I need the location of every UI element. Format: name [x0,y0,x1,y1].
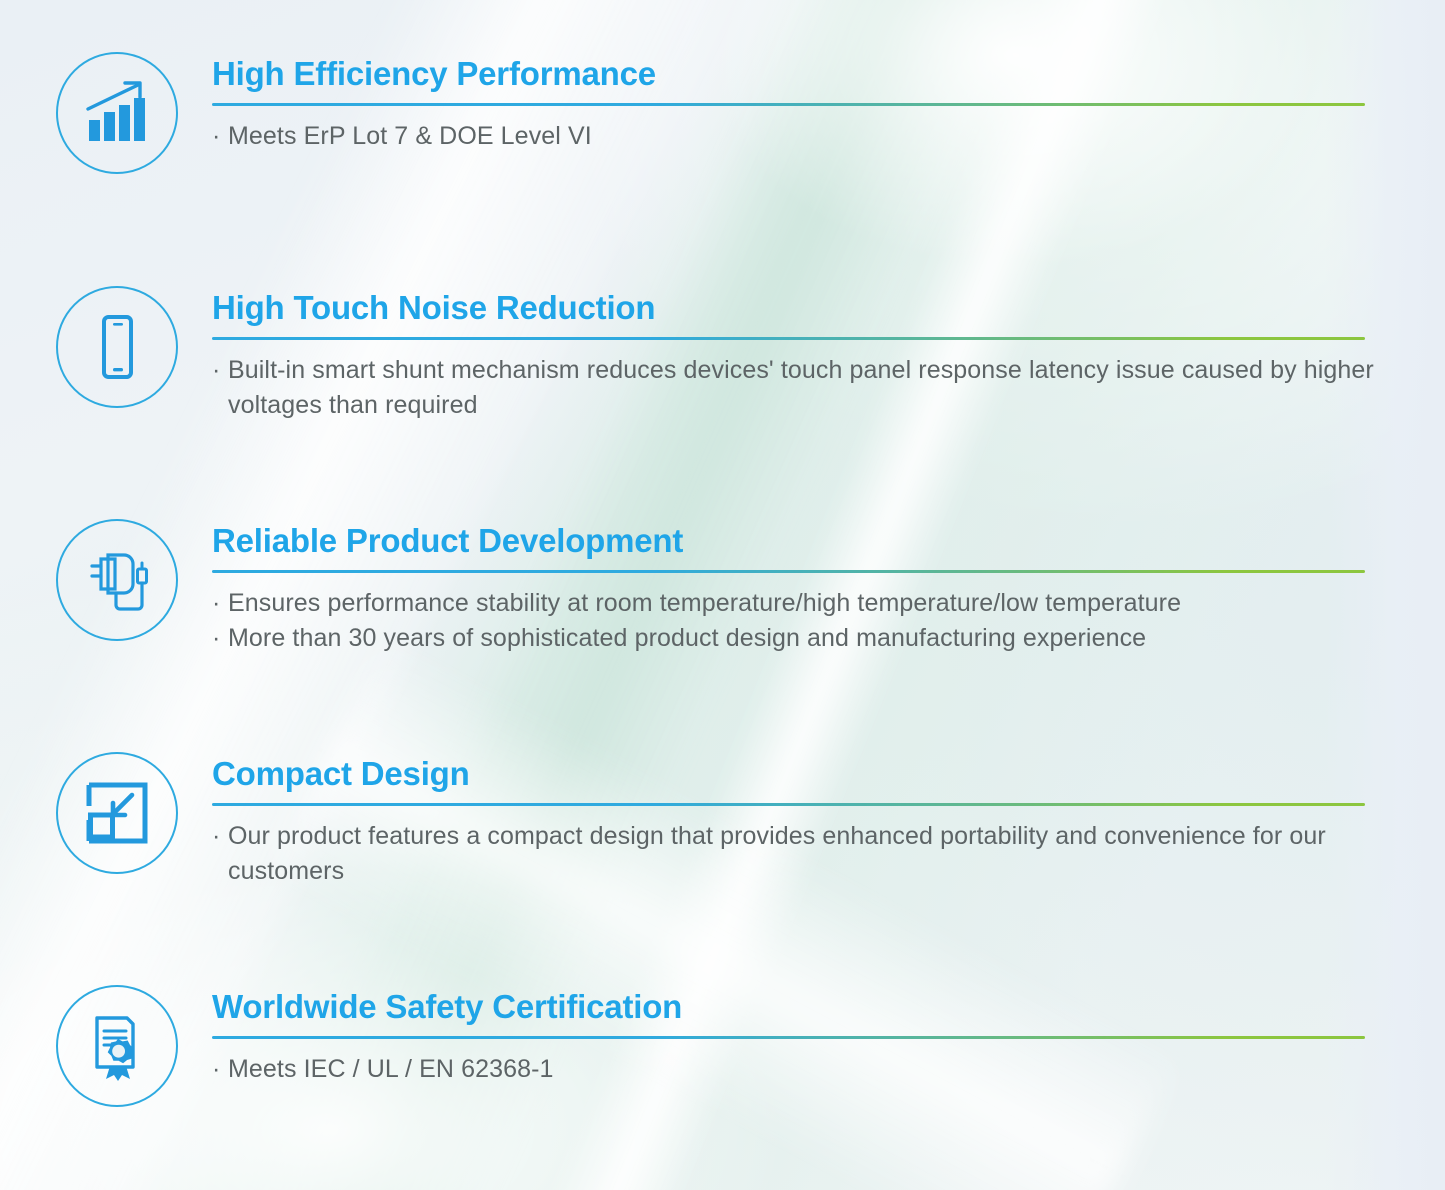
list-item: · Meets IEC / UL / EN 62368-1 [212,1052,1445,1088]
feature-icon-container [54,284,180,408]
feature-title: High Touch Noise Reduction [212,290,1445,327]
feature-bullets: · Built-in smart shunt mechanism reduces… [212,353,1445,424]
feature-divider [212,803,1365,806]
bullet-marker: · [212,621,228,657]
list-item: · Meets ErP Lot 7 & DOE Level VI [212,119,1445,155]
feature-body: High Efficiency Performance · Meets ErP … [212,50,1445,154]
bullet-marker: · [212,819,228,855]
feature-icon-container [54,750,180,874]
feature-item-reliable-product-development: Reliable Product Development · Ensures p… [0,517,1445,657]
list-item: · Our product features a compact design … [212,819,1445,890]
feature-title: Compact Design [212,756,1445,793]
certificate-award-icon [56,985,178,1107]
list-item: · Built-in smart shunt mechanism reduces… [212,353,1445,424]
feature-divider [212,570,1365,573]
bullet-text: Meets IEC / UL / EN 62368-1 [228,1052,1445,1088]
feature-item-worldwide-safety-certification: Worldwide Safety Certification · Meets I… [0,983,1445,1107]
feature-icon-container [54,983,180,1107]
feature-bullets: · Meets ErP Lot 7 & DOE Level VI [212,119,1445,155]
power-adapter-icon [56,519,178,641]
bullet-marker: · [212,586,228,622]
feature-highlights-page: High Efficiency Performance · Meets ErP … [0,0,1445,1190]
feature-item-high-efficiency-performance: High Efficiency Performance · Meets ErP … [0,50,1445,174]
compact-resize-icon [56,752,178,874]
bullet-marker: · [212,1052,228,1088]
bullet-marker: · [212,119,228,155]
bullet-text: Ensures performance stability at room te… [228,586,1445,622]
feature-divider [212,103,1365,106]
feature-bullets: · Meets IEC / UL / EN 62368-1 [212,1052,1445,1088]
feature-body: Worldwide Safety Certification · Meets I… [212,983,1445,1087]
bullet-text: Our product features a compact design th… [228,819,1445,890]
bullet-text: More than 30 years of sophisticated prod… [228,621,1445,657]
bar-chart-growth-icon [56,52,178,174]
feature-icon-container [54,517,180,641]
feature-item-compact-design: Compact Design · Our product features a … [0,750,1445,890]
bullet-marker: · [212,353,228,389]
feature-divider [212,337,1365,340]
smartphone-icon [56,286,178,408]
feature-body: High Touch Noise Reduction · Built-in sm… [212,284,1445,424]
list-item: · Ensures performance stability at room … [212,586,1445,622]
feature-title: High Efficiency Performance [212,56,1445,93]
bullet-text: Meets ErP Lot 7 & DOE Level VI [228,119,1445,155]
feature-item-high-touch-noise-reduction: High Touch Noise Reduction · Built-in sm… [0,284,1445,424]
list-item: · More than 30 years of sophisticated pr… [212,621,1445,657]
feature-title: Reliable Product Development [212,523,1445,560]
feature-body: Compact Design · Our product features a … [212,750,1445,890]
feature-bullets: · Our product features a compact design … [212,819,1445,890]
feature-bullets: · Ensures performance stability at room … [212,586,1445,657]
bullet-text: Built-in smart shunt mechanism reduces d… [228,353,1445,424]
feature-body: Reliable Product Development · Ensures p… [212,517,1445,657]
feature-title: Worldwide Safety Certification [212,989,1445,1026]
feature-icon-container [54,50,180,174]
feature-divider [212,1036,1365,1039]
